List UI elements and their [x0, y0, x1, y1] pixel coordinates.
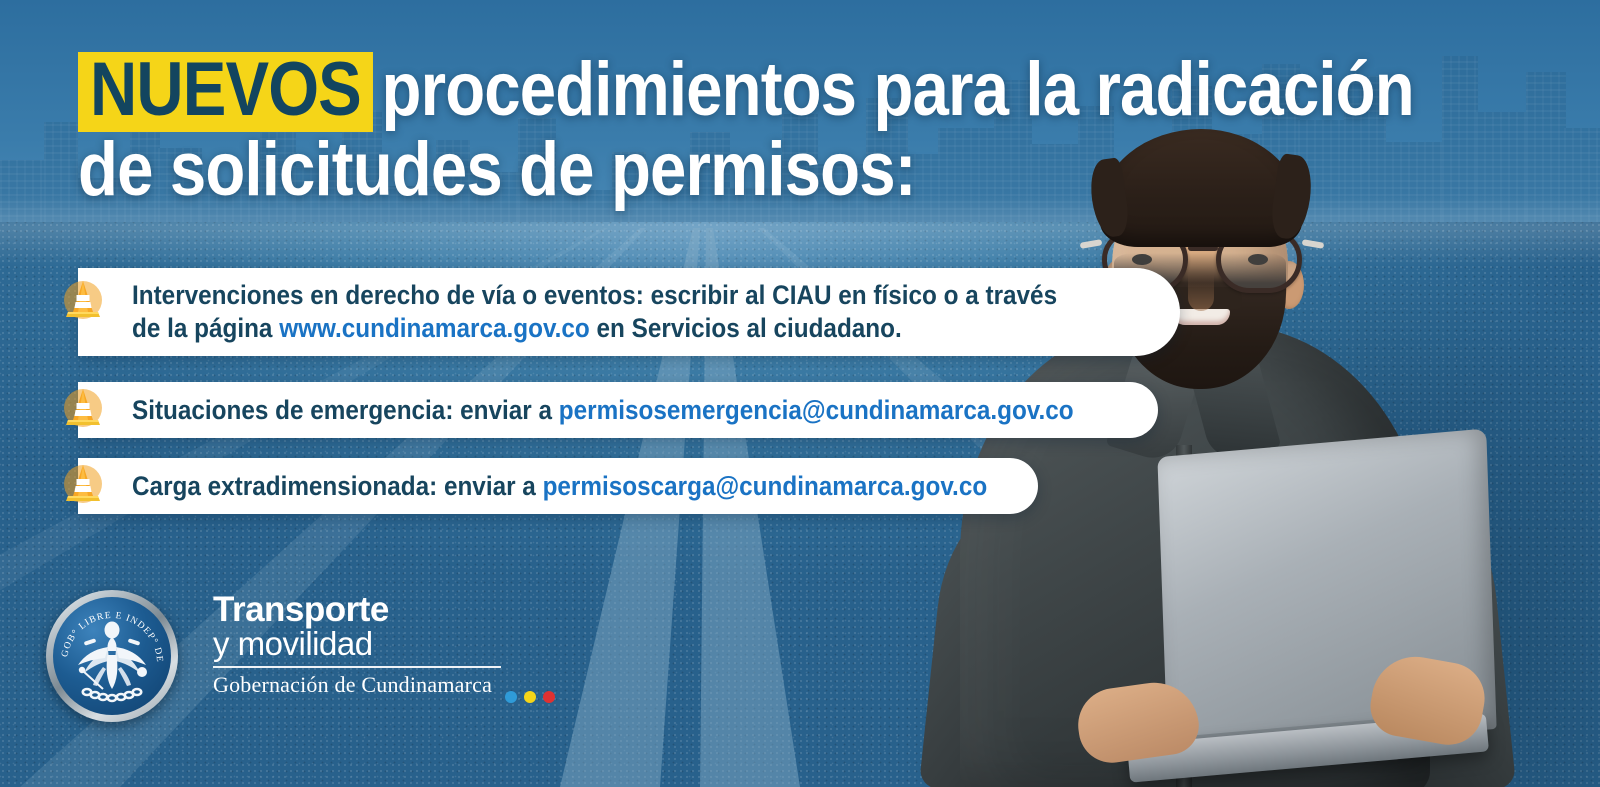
traffic-cone-icon [60, 460, 106, 506]
info-bar-emergencia: Situaciones de emergencia: enviar a perm… [78, 382, 1158, 438]
logo-block: GOB° LIBRE E INDEP° DE CUNDIN° [46, 586, 566, 726]
headline: NUEVOSprocedimientos para la radicación … [78, 52, 1153, 207]
traffic-cone-icon [60, 384, 106, 430]
cundinamarca-seal-icon: GOB° LIBRE E INDEP° DE CUNDIN° [46, 590, 178, 722]
brand-line-movilidad: y movilidad [213, 627, 563, 662]
info-bar-1-line2-suffix: en Servicios al ciudadano. [590, 313, 902, 343]
banner-canvas: NUEVOSprocedimientos para la radicación … [0, 0, 1600, 787]
info-bar-2-text: Situaciones de emergencia: enviar a perm… [132, 395, 1074, 426]
email-link-carga[interactable]: permisoscarga@cundinamarca.gov.co [543, 471, 988, 501]
info-bar-1-line2-prefix: de la página [132, 313, 279, 343]
info-bar-3-text: Carga extradimensionada: enviar a permis… [132, 471, 987, 502]
brand-dots [505, 691, 555, 703]
brand-dot-red [543, 691, 555, 703]
headline-highlight-word: NUEVOS [78, 52, 373, 132]
info-bar-1-text: Intervenciones en derecho de vía o event… [132, 279, 1075, 345]
brand-dot-yellow [524, 691, 536, 703]
brand-divider [213, 666, 501, 668]
brand-dot-blue [505, 691, 517, 703]
info-bar-intervenciones: Intervenciones en derecho de vía o event… [78, 268, 1180, 356]
info-bar-2-label: Situaciones de emergencia: enviar a [132, 395, 559, 425]
info-bar-1-line1: Intervenciones en derecho de vía o event… [132, 280, 1057, 310]
headline-line-1-rest: procedimientos para la radicación [382, 47, 1414, 132]
info-bar-carga: Carga extradimensionada: enviar a permis… [78, 458, 1038, 514]
brand-line-transporte: Transporte [213, 592, 563, 627]
headline-line-2: de solicitudes de permisos: [78, 132, 1153, 207]
email-link-emergencia[interactable]: permisosemergencia@cundinamarca.gov.co [559, 395, 1074, 425]
headline-line-1: NUEVOSprocedimientos para la radicación [78, 52, 1153, 132]
website-link[interactable]: www.cundinamarca.gov.co [279, 313, 590, 343]
brand-text: Transporte y movilidad Gobernación de Cu… [213, 592, 563, 698]
mouth [1172, 309, 1230, 325]
info-bar-3-label: Carga extradimensionada: enviar a [132, 471, 543, 501]
traffic-cone-icon [60, 276, 106, 322]
